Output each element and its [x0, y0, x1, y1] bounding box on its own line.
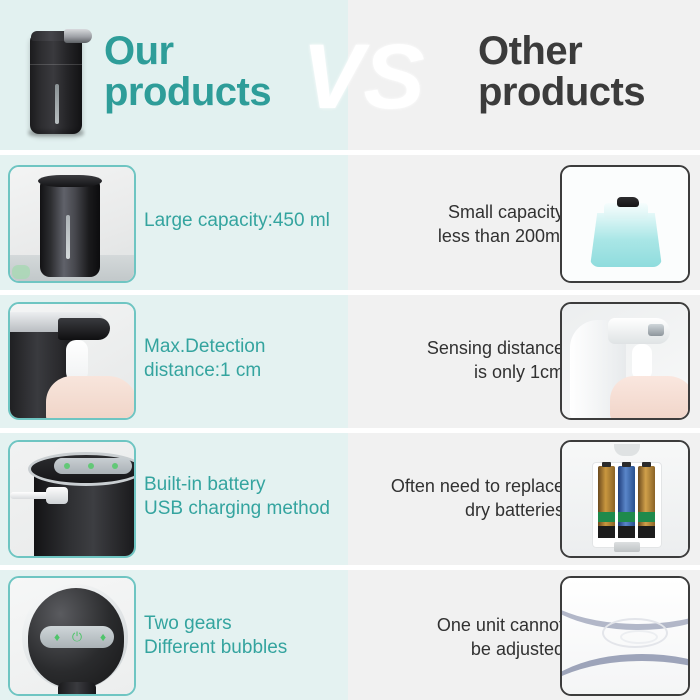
caption-large-capacity-line1: Large capacity:450 ml [144, 210, 330, 231]
battery-tip [602, 462, 611, 467]
black-cylinder-dispenser-photo [10, 167, 134, 281]
hand [46, 376, 136, 420]
battery-band [618, 512, 635, 522]
droplet-small-icon: ♦ [50, 630, 64, 644]
vs-badge: VS [302, 18, 398, 136]
battery-1 [598, 466, 615, 538]
other-products-title-line1: Other [478, 29, 582, 73]
caption-built-in-battery: Built-in battery USB charging method [144, 473, 349, 522]
caption-two-gears: Two gears Different bubbles [144, 612, 349, 661]
battery-tip [642, 462, 651, 467]
white-dispenser-hand-foam-photo [562, 304, 688, 418]
droplet-large-icon: ♦ [96, 630, 110, 644]
cartridge-cap [617, 197, 639, 207]
hero-dispenser-image [30, 22, 88, 134]
housing-notch [614, 444, 640, 456]
caption-built-in-battery-line1: Built-in battery [144, 473, 349, 497]
thumb-dry-batteries [560, 440, 690, 558]
caption-cannot-adjust: One unit cannot be adjusted [392, 614, 564, 662]
lid-arc-bottom [560, 654, 690, 696]
battery-band [598, 512, 615, 522]
dispenser-spout [58, 318, 110, 340]
cartridge-body [590, 213, 662, 267]
green-accent [12, 265, 30, 279]
lid-emboss [602, 618, 668, 648]
caption-two-gears-line1: Two gears [144, 612, 349, 636]
dispenser-cylinder [40, 179, 100, 277]
battery-band [638, 512, 655, 522]
caption-dry-batteries-line2: dry batteries [366, 499, 564, 523]
header-banner: Our products VS Other products [0, 0, 700, 155]
hero-dispenser-level-window [55, 84, 59, 124]
battery-base [618, 526, 635, 538]
level-window [66, 215, 70, 259]
usb-plug [46, 487, 68, 504]
caption-two-gears-line2: Different bubbles [144, 636, 349, 660]
battery-base [638, 526, 655, 538]
dispenser-lid [38, 175, 102, 187]
other-products-title-line2: products [478, 73, 645, 112]
caption-small-capacity-line2: less than 200ml [396, 225, 564, 249]
small-cyan-cartridge-photo [562, 167, 688, 281]
thumb-two-gears: ♦ ⏻ ♦ [8, 576, 136, 696]
caption-small-capacity-line1: Small capacity [396, 201, 564, 225]
caption-dry-batteries: Often need to replace dry batteries [366, 475, 564, 523]
battery-contact-plate [614, 542, 640, 552]
caption-small-capacity: Small capacity less than 200ml [396, 201, 564, 249]
caption-sensing-distance: Sensing distance is only 1cm [392, 337, 564, 385]
foam-stream [632, 344, 652, 380]
caption-cannot-adjust-line2: be adjusted [392, 638, 564, 662]
caption-detection-distance-line2: distance:1 cm [144, 359, 349, 383]
battery-2 [618, 466, 635, 538]
row-gears: ♦ ⏻ ♦ Two gears Different bubbles One un… [0, 570, 700, 700]
sensor-window [648, 324, 664, 336]
caption-sensing-distance-line2: is only 1cm [392, 361, 564, 385]
hero-dispenser-shadow [28, 130, 84, 136]
two-gear-control-panel-photo: ♦ ⏻ ♦ [10, 578, 134, 694]
thumb-detection-distance [8, 302, 136, 420]
battery-tip [622, 462, 631, 467]
dispenser-neck [58, 682, 96, 696]
row-sensing: Max.Detection distance:1 cm Sensing dist… [0, 295, 700, 428]
row-power: Built-in battery USB charging method Oft… [0, 433, 700, 565]
usb-charging-dispenser-photo [10, 442, 134, 556]
hero-dispenser-nozzle [64, 29, 92, 43]
thumb-cannot-adjust [560, 576, 690, 696]
battery-base [598, 526, 615, 538]
caption-large-capacity: Large capacity:450 ml [144, 209, 344, 233]
caption-detection-distance-line1: Max.Detection [144, 335, 349, 359]
row-capacity: Large capacity:450 ml Small capacity les… [0, 155, 700, 290]
plain-white-lid-photo [562, 578, 688, 694]
battery-3 [638, 466, 655, 538]
our-products-title-line2: products [104, 73, 271, 112]
caption-cannot-adjust-line1: One unit cannot [392, 614, 564, 638]
our-products-title-line1: Our [104, 29, 174, 73]
black-dispenser-hand-foam-photo [10, 304, 134, 418]
other-products-title: Other products [478, 32, 645, 112]
comparison-infographic: Our products VS Other products Large cap… [0, 0, 700, 700]
indicator-dot-mid [88, 463, 94, 469]
indicator-dot-left [64, 463, 70, 469]
power-icon: ⏻ [70, 630, 84, 644]
caption-built-in-battery-line2: USB charging method [144, 497, 349, 521]
thumb-usb-charging [8, 440, 136, 558]
indicator-dot-right [112, 463, 118, 469]
caption-detection-distance: Max.Detection distance:1 cm [144, 335, 349, 384]
our-products-title: Our products [104, 32, 271, 112]
thumb-large-capacity [8, 165, 136, 283]
caption-dry-batteries-line1: Often need to replace [366, 475, 564, 499]
thumb-small-capacity [560, 165, 690, 283]
thumb-sensing-distance [560, 302, 690, 420]
hand [610, 376, 690, 420]
aa-dry-batteries-photo [562, 442, 688, 556]
caption-sensing-distance-line1: Sensing distance [392, 337, 564, 361]
